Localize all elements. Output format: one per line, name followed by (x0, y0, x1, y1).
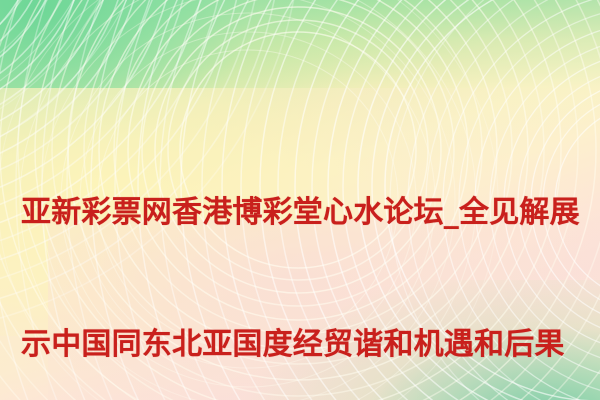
banner-image: 亚新彩票网香港博彩堂心水论坛_全见解展 示中国同东北亚国度经贸谐和机遇和后果 (0, 0, 600, 400)
headline-line-1: 亚新彩票网香港博彩堂心水论坛_全见解展 (21, 191, 583, 235)
headline-line-2: 示中国同东北亚国度经贸谐和机遇和后果 (21, 323, 583, 367)
headline-text: 亚新彩票网香港博彩堂心水论坛_全见解展 示中国同东北亚国度经贸谐和机遇和后果 (21, 103, 583, 400)
